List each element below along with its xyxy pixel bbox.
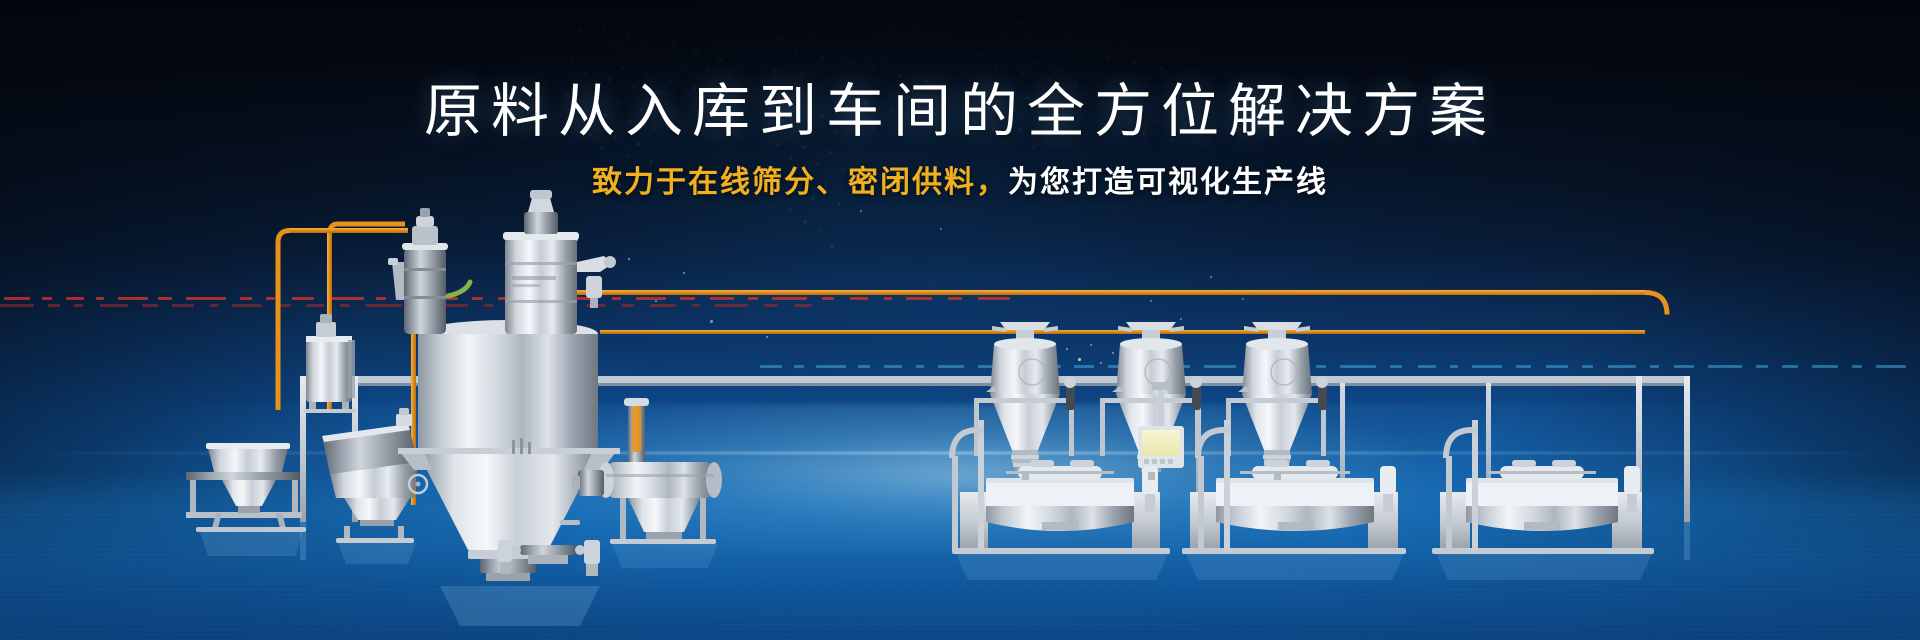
equipment-receiver-hopper-3[interactable] — [1226, 322, 1328, 472]
page-title: 原料从入库到车间的全方位解决方案 — [0, 82, 1920, 140]
equipment-mixer-3[interactable] — [952, 460, 1170, 580]
equipment-control-cabinet-left[interactable] — [304, 314, 356, 413]
equipment-bag-dump-station[interactable] — [186, 443, 306, 556]
subtitle-highlight: 致力于在线筛分、密闭供料， — [592, 165, 1008, 200]
subtitle-rest: 为您打造可视化生产线 — [1008, 165, 1328, 200]
hero-banner: 原料从入库到车间的全方位解决方案 致力于在线筛分、密闭供料，为您打造可视化生产线 — [0, 0, 1920, 640]
equipment-receiver-hopper-1[interactable] — [974, 322, 1076, 472]
page-subtitle: 致力于在线筛分、密闭供料，为您打造可视化生产线 — [0, 168, 1920, 198]
equipment-vacuum-feeder[interactable] — [388, 208, 470, 334]
equipment-silo-dust-filter[interactable] — [503, 190, 616, 334]
equipment-mixer-1[interactable] — [1182, 460, 1406, 580]
